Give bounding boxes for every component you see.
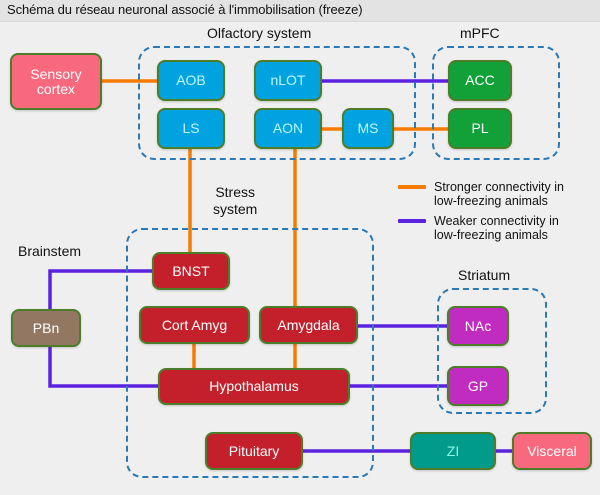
legend-swatch-weaker-icon: [398, 219, 426, 223]
legend-swatch-stronger-icon: [398, 185, 426, 189]
node-aob[interactable]: AOB: [157, 60, 225, 101]
node-visceral[interactable]: Visceral: [512, 432, 592, 470]
group-label-striatum: Striatum: [458, 267, 510, 283]
node-bnst[interactable]: BNST: [152, 252, 230, 290]
node-pl[interactable]: PL: [448, 108, 512, 149]
legend-label-stronger: Stronger connectivity in low-freezing an…: [434, 180, 564, 208]
group-label-olfactory: Olfactory system: [207, 25, 311, 41]
group-label-brainstem: Brainstem: [18, 243, 81, 259]
node-gp[interactable]: GP: [447, 366, 509, 406]
group-label-stress: Stress system: [213, 184, 257, 218]
node-nlot[interactable]: nLOT: [254, 60, 322, 101]
node-amygdala[interactable]: Amygdala: [259, 306, 358, 344]
node-pbn[interactable]: PBn: [11, 309, 81, 347]
node-zi[interactable]: ZI: [410, 432, 496, 470]
node-pituitary[interactable]: Pituitary: [205, 432, 303, 470]
legend-item-stronger: Stronger connectivity in low-freezing an…: [398, 180, 564, 208]
node-ls[interactable]: LS: [157, 108, 225, 149]
node-sensory-cortex[interactable]: Sensory cortex: [10, 53, 102, 110]
legend: Stronger connectivity in low-freezing an…: [398, 180, 564, 248]
legend-label-weaker: Weaker connectivity in low-freezing anim…: [434, 214, 559, 242]
node-cort-amyg[interactable]: Cort Amyg: [139, 306, 250, 344]
node-acc[interactable]: ACC: [448, 60, 512, 101]
diagram-canvas: Schéma du réseau neuronal associé à l'im…: [0, 0, 600, 495]
node-hypothalamus[interactable]: Hypothalamus: [158, 368, 350, 405]
node-aon[interactable]: AON: [254, 108, 322, 149]
legend-item-weaker: Weaker connectivity in low-freezing anim…: [398, 214, 564, 242]
node-ms[interactable]: MS: [342, 108, 394, 149]
node-nac[interactable]: NAc: [447, 306, 509, 346]
group-label-mpfc: mPFC: [460, 25, 500, 41]
